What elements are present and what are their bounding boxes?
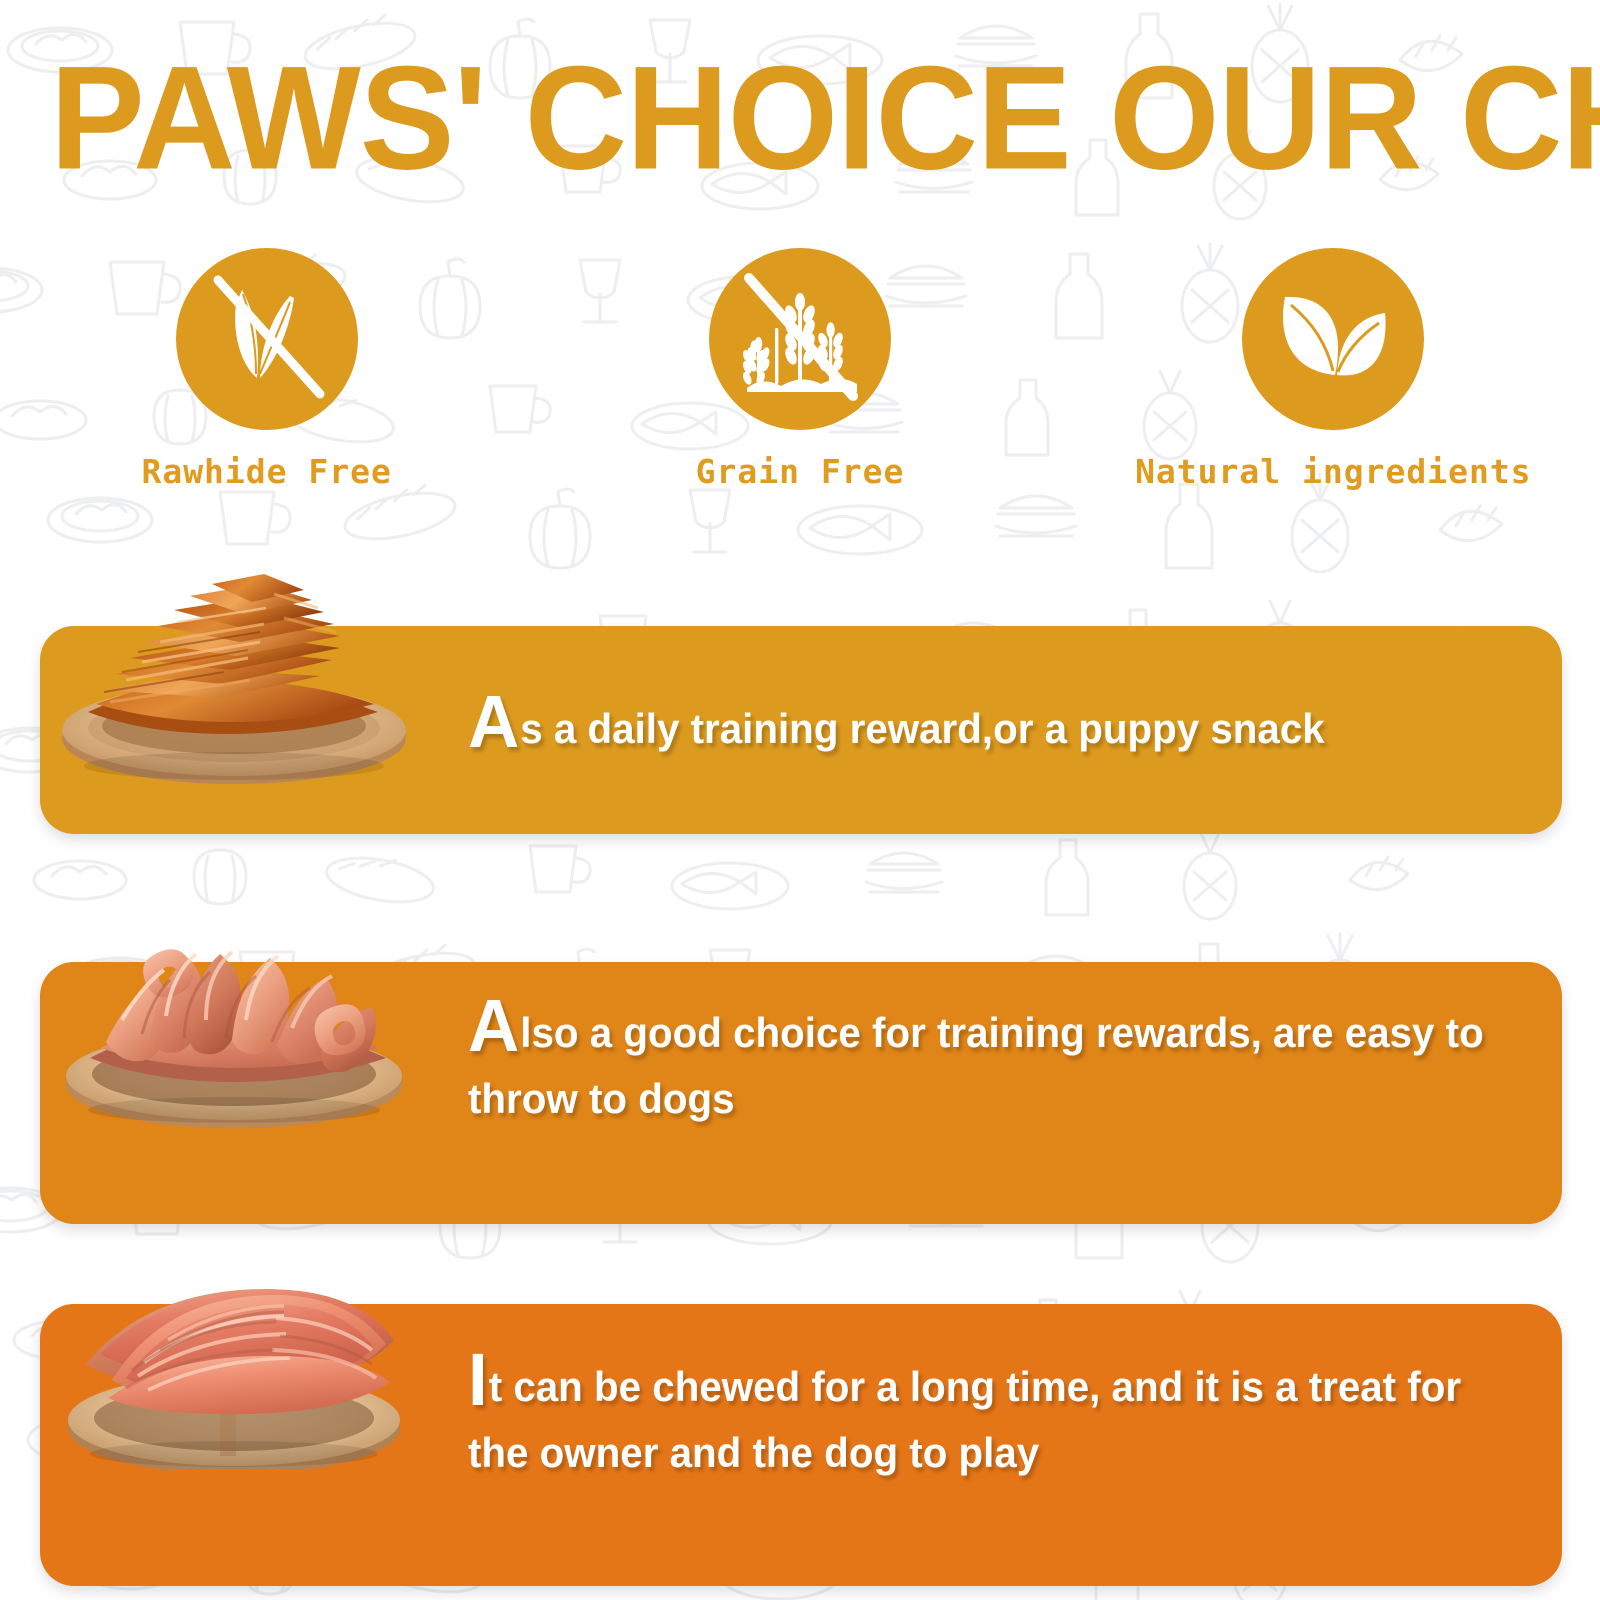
benefit-row: As a daily training reward,or a puppy sn… — [0, 600, 1600, 900]
benefit-dropcap: I — [468, 1338, 489, 1421]
feature-natural-ingredients: Natural ingredients — [1067, 248, 1600, 510]
feature-label: Grain Free — [696, 452, 905, 491]
benefit-text: As a daily training reward,or a puppy sn… — [468, 696, 1486, 762]
benefit-dropcap: A — [468, 984, 520, 1067]
rawhide-free-icon — [176, 248, 358, 430]
benefit-dropcap: A — [468, 680, 520, 763]
feature-rawhide-free: Rawhide Free — [0, 248, 533, 510]
feature-label: Natural ingredients — [1135, 452, 1532, 491]
benefit-body: t can be chewed for a long time, and it … — [468, 1363, 1461, 1476]
feature-badge-row: Rawhide Free — [0, 248, 1600, 510]
benefit-row: Also a good choice for training rewards,… — [0, 940, 1600, 1270]
feature-label: Rawhide Free — [141, 452, 391, 491]
product-photo-breast-fillets — [34, 1232, 440, 1470]
natural-leaf-icon — [1242, 248, 1424, 430]
benefit-body: lso a good choice for training rewards, … — [468, 1009, 1484, 1122]
benefit-body: s a daily training reward,or a puppy sna… — [520, 705, 1324, 752]
benefit-text: Also a good choice for training rewards,… — [468, 1000, 1486, 1132]
product-photo-jerky-curls — [34, 892, 440, 1130]
product-photo-jerky-strips — [34, 552, 440, 790]
page-title: PAWS' CHOICE OUR CHOICE — [50, 42, 1600, 196]
benefit-text: It can be chewed for a long time, and it… — [468, 1354, 1486, 1486]
grain-free-icon — [709, 248, 891, 430]
infographic-page: PAWS' CHOICE OUR CHOICE Rawhide Free — [0, 0, 1600, 1600]
benefit-row: It can be chewed for a long time, and it… — [0, 1282, 1600, 1600]
feature-grain-free: Grain Free — [533, 248, 1066, 510]
